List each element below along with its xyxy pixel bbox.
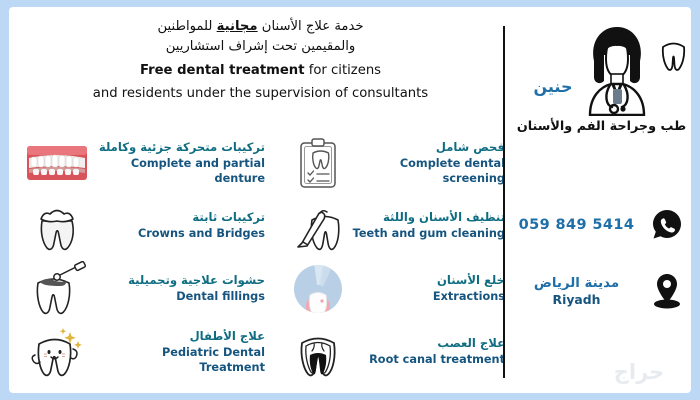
service-item-pediatric[interactable]: علاج الأطفال Pediatric Dental Treatment [21, 320, 269, 383]
service-english-denture: Complete and partial denture [93, 156, 265, 186]
service-english-pediatric: Pediatric Dental Treatment [93, 345, 265, 375]
map-pin-icon[interactable] [643, 272, 691, 310]
service-label-cleaning: تنظيف الأسنان واللثة Teeth and gum clean… [349, 210, 509, 241]
service-arabic-screening: فحص شامل [349, 140, 505, 155]
tooth-drill-filling-icon [21, 260, 93, 318]
service-label-fillings: حشوات علاجية وتجميلية Dental fillings [93, 273, 269, 304]
service-item-denture[interactable]: تركيبات متحركة جزئية وكاملة Complete and… [21, 131, 269, 194]
tooth-extraction-forceps-icon [287, 260, 349, 318]
service-item-cleaning[interactable]: تنظيف الأسنان واللثة Teeth and gum clean… [287, 194, 509, 257]
tooth-scaler-cleaning-icon [287, 197, 349, 255]
crown-tooth-icon [21, 197, 93, 255]
services-column-left: تركيبات متحركة جزئية وكاملة Complete and… [21, 131, 269, 383]
tooth-icon [660, 37, 686, 75]
service-item-crowns[interactable]: تركيبات ثابتة Crowns and Bridges [21, 194, 269, 257]
clinic-info-sidebar: حنين [512, 7, 691, 393]
service-label-pediatric: علاج الأطفال Pediatric Dental Treatment [93, 329, 269, 375]
service-english-cleaning: Teeth and gum cleaning [349, 226, 505, 241]
phone-text: 059 849 5414 [512, 217, 643, 233]
location-arabic: مدينة الرياض [512, 275, 641, 292]
header-arabic-text-before: خدمة علاج الأسنان [258, 19, 364, 34]
header-english-line2: and residents under the supervision of c… [9, 84, 512, 103]
service-arabic-extractions: خلع الأسنان [349, 273, 505, 288]
service-arabic-denture: تركيبات متحركة جزئية وكاملة [93, 140, 265, 155]
header-english-line1: Free dental treatment for citizens [9, 61, 512, 80]
service-english-fillings: Dental fillings [93, 289, 265, 304]
happy-tooth-sparkle-icon [21, 323, 93, 381]
location-text: مدينة الرياض Riyadh [512, 275, 643, 307]
header-arabic-free-word: مجانية [217, 19, 258, 34]
header-english-bold: Free dental treatment [140, 63, 305, 78]
whatsapp-phone-icon[interactable] [643, 208, 691, 242]
service-item-screening[interactable]: فحص شامل Complete dental screening [287, 131, 509, 194]
service-english-screening: Complete dental screening [349, 156, 505, 186]
header-arabic-line2: والمقيمين تحت إشراف استشاريين [9, 37, 512, 57]
phone-contact-row[interactable]: 059 849 5414 [512, 203, 691, 247]
service-arabic-fillings: حشوات علاجية وتجميلية [93, 273, 265, 288]
header-english-rest: for citizens [305, 63, 382, 78]
service-english-crowns: Crowns and Bridges [93, 226, 265, 241]
root-canal-tooth-icon [287, 323, 349, 381]
location-contact-row[interactable]: مدينة الرياض Riyadh [512, 269, 691, 313]
header-arabic-text-after: للمواطنين [157, 19, 216, 34]
service-label-denture: تركيبات متحركة جزئية وكاملة Complete and… [93, 140, 269, 186]
service-label-rootcanal: علاج العصب Root canal treatment [349, 336, 509, 367]
service-arabic-crowns: تركيبات ثابتة [93, 210, 265, 225]
denture-icon [21, 134, 93, 192]
service-arabic-cleaning: تنظيف الأسنان واللثة [349, 210, 505, 225]
service-item-fillings[interactable]: حشوات علاجية وتجميلية Dental fillings [21, 257, 269, 320]
service-label-screening: فحص شامل Complete dental screening [349, 140, 509, 186]
clipboard-tooth-checklist-icon [287, 134, 349, 192]
haraj-watermark: حراج [593, 355, 685, 389]
service-english-rootcanal: Root canal treatment [349, 352, 505, 367]
header-block: خدمة علاج الأسنان مجانية للمواطنين والمق… [9, 17, 512, 103]
services-column-middle: فحص شامل Complete dental screening تنظيف… [287, 131, 509, 383]
clinic-specialty: طب وجراحة الفم والأسنان [512, 119, 691, 134]
service-item-rootcanal[interactable]: علاج العصب Root canal treatment [287, 320, 509, 383]
service-english-extractions: Extractions [349, 289, 505, 304]
service-item-extractions[interactable]: خلع الأسنان Extractions [287, 257, 509, 320]
phone-number[interactable]: 059 849 5414 [512, 217, 641, 233]
doctor-header-row: حنين [512, 21, 691, 113]
service-label-extractions: خلع الأسنان Extractions [349, 273, 509, 304]
doctor-name: حنين [524, 77, 582, 96]
header-arabic-line1: خدمة علاج الأسنان مجانية للمواطنين [9, 17, 512, 37]
location-english: Riyadh [512, 292, 641, 307]
vertical-divider [503, 26, 505, 378]
service-arabic-pediatric: علاج الأطفال [93, 329, 265, 344]
service-arabic-rootcanal: علاج العصب [349, 336, 505, 351]
ad-card: خدمة علاج الأسنان مجانية للمواطنين والمق… [9, 7, 691, 393]
female-doctor-icon [576, 21, 658, 120]
service-label-crowns: تركيبات ثابتة Crowns and Bridges [93, 210, 269, 241]
